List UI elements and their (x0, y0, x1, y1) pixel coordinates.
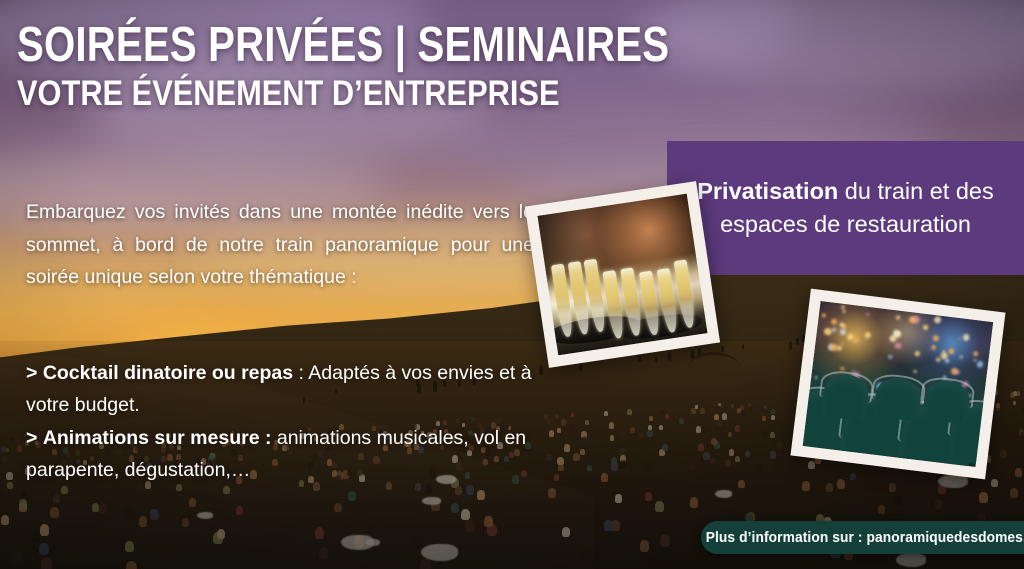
callout-text: Privatisation du train et des espaces de… (667, 175, 1024, 242)
more-info-banner[interactable]: Plus d’information sur : panoramiquedesd… (701, 521, 1024, 554)
chevron-marker: > (26, 427, 37, 449)
chair-highlight (984, 398, 987, 401)
bokeh-light (894, 342, 901, 349)
marketing-slide: SOIRÉES PRIVÉES | SEMINAIRES VOTRE ÉVÉNE… (0, 0, 1024, 569)
bokeh-light (931, 345, 936, 350)
offer-list: > Cocktail dinatoire ou repas : Adaptés … (26, 358, 546, 488)
photo-inner (537, 194, 707, 356)
bokeh-light (840, 323, 844, 327)
intro-paragraph: Embarquez vos invités dans une montée in… (26, 196, 534, 294)
list-item: > Cocktail dinatoire ou repas : Adaptés … (26, 358, 546, 421)
page-title: SOIRÉES PRIVÉES | SEMINAIRES (17, 22, 640, 70)
bokeh-light (822, 314, 826, 318)
callout-emphasis: Privatisation (697, 178, 838, 204)
chevron-marker: > (26, 362, 37, 384)
chair (873, 376, 923, 422)
headline-block: SOIRÉES PRIVÉES | SEMINAIRES VOTRE ÉVÉNE… (17, 22, 777, 111)
bokeh-light (923, 325, 928, 330)
banquet-hall-photo (790, 289, 1005, 480)
bokeh-light (915, 351, 920, 356)
page-subtitle: VOTRE ÉVÉNEMENT D’ENTREPRISE (17, 76, 686, 111)
bokeh-light (840, 367, 844, 371)
bokeh-light (960, 355, 963, 358)
champagne-flutes-photo (525, 181, 720, 368)
photo-inner (803, 301, 993, 467)
list-item-title: Animations sur mesure : (43, 427, 272, 449)
chair-highlight (815, 376, 818, 379)
chair (922, 379, 972, 425)
more-info-text: Plus d’information sur : panoramiquedesd… (705, 530, 1024, 546)
chair (820, 372, 870, 421)
privatisation-callout: Privatisation du train et des espaces de… (667, 141, 1024, 275)
list-item: > Animations sur mesure : animations mus… (26, 423, 546, 486)
bokeh-light (841, 342, 844, 345)
list-item-title: Cocktail dinatoire ou repas (43, 362, 293, 384)
